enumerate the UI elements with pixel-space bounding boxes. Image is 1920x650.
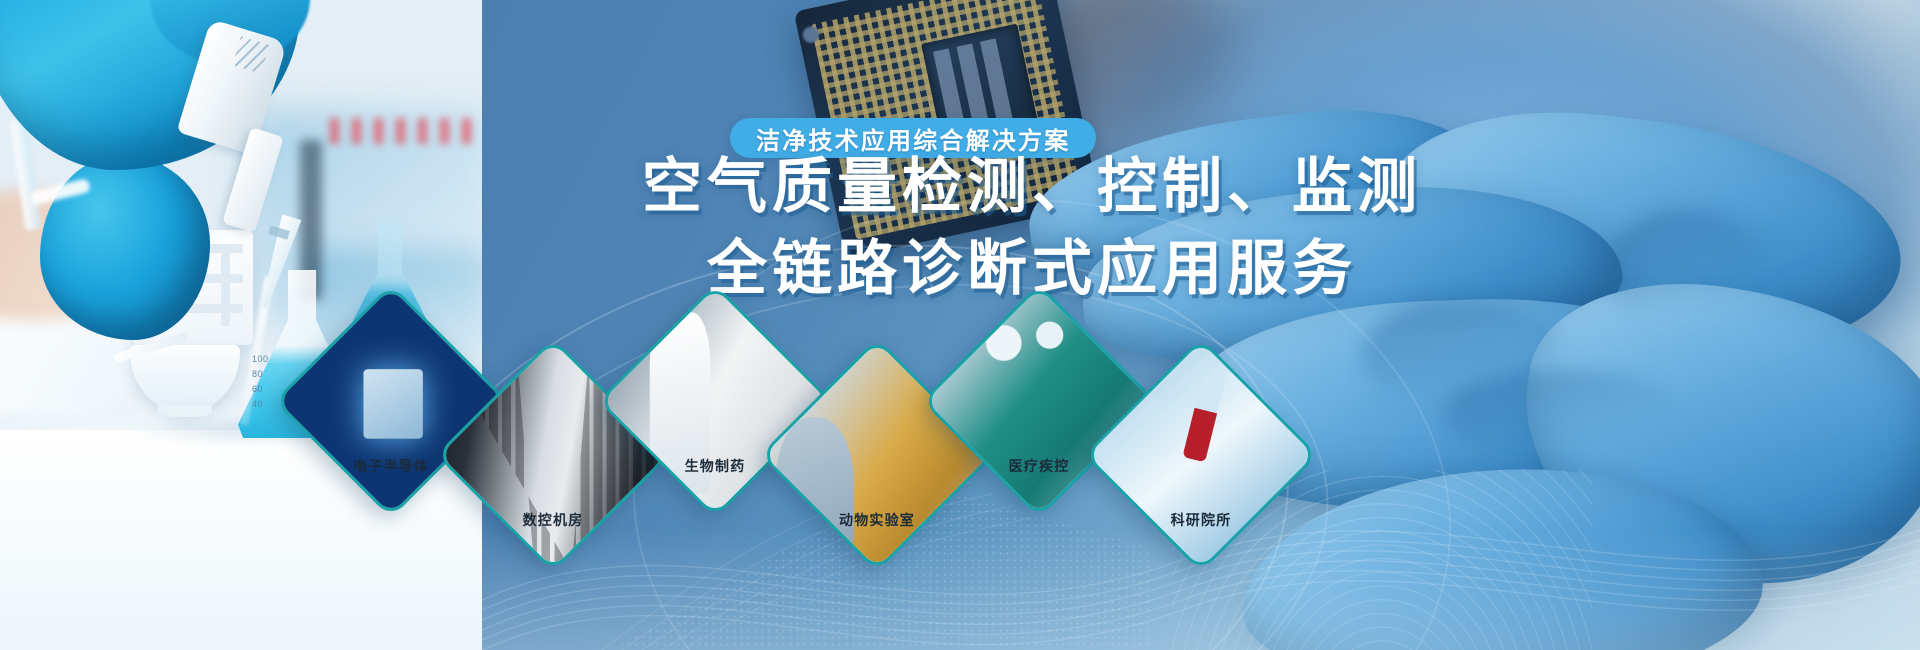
card-label: 生物制药 xyxy=(685,456,746,476)
card-diamond-frame xyxy=(1084,338,1319,573)
card-image-research-lab-test-tube xyxy=(1085,339,1317,571)
card-label: 动物实验室 xyxy=(839,510,915,530)
card-label: 数控机房 xyxy=(523,510,584,530)
card-label: 电子半导体 xyxy=(353,456,429,476)
card-label: 科研院所 xyxy=(1171,510,1232,530)
hero-banner: 100 80 60 40 xyxy=(0,0,1920,650)
industry-card-row: 电子半导体 数控机房 生物制药 动物实验室 医疗疾控 xyxy=(0,0,1920,650)
card-label: 医疗疾控 xyxy=(1009,456,1070,476)
industry-card-research-institute[interactable]: 科研院所 xyxy=(1118,372,1284,538)
